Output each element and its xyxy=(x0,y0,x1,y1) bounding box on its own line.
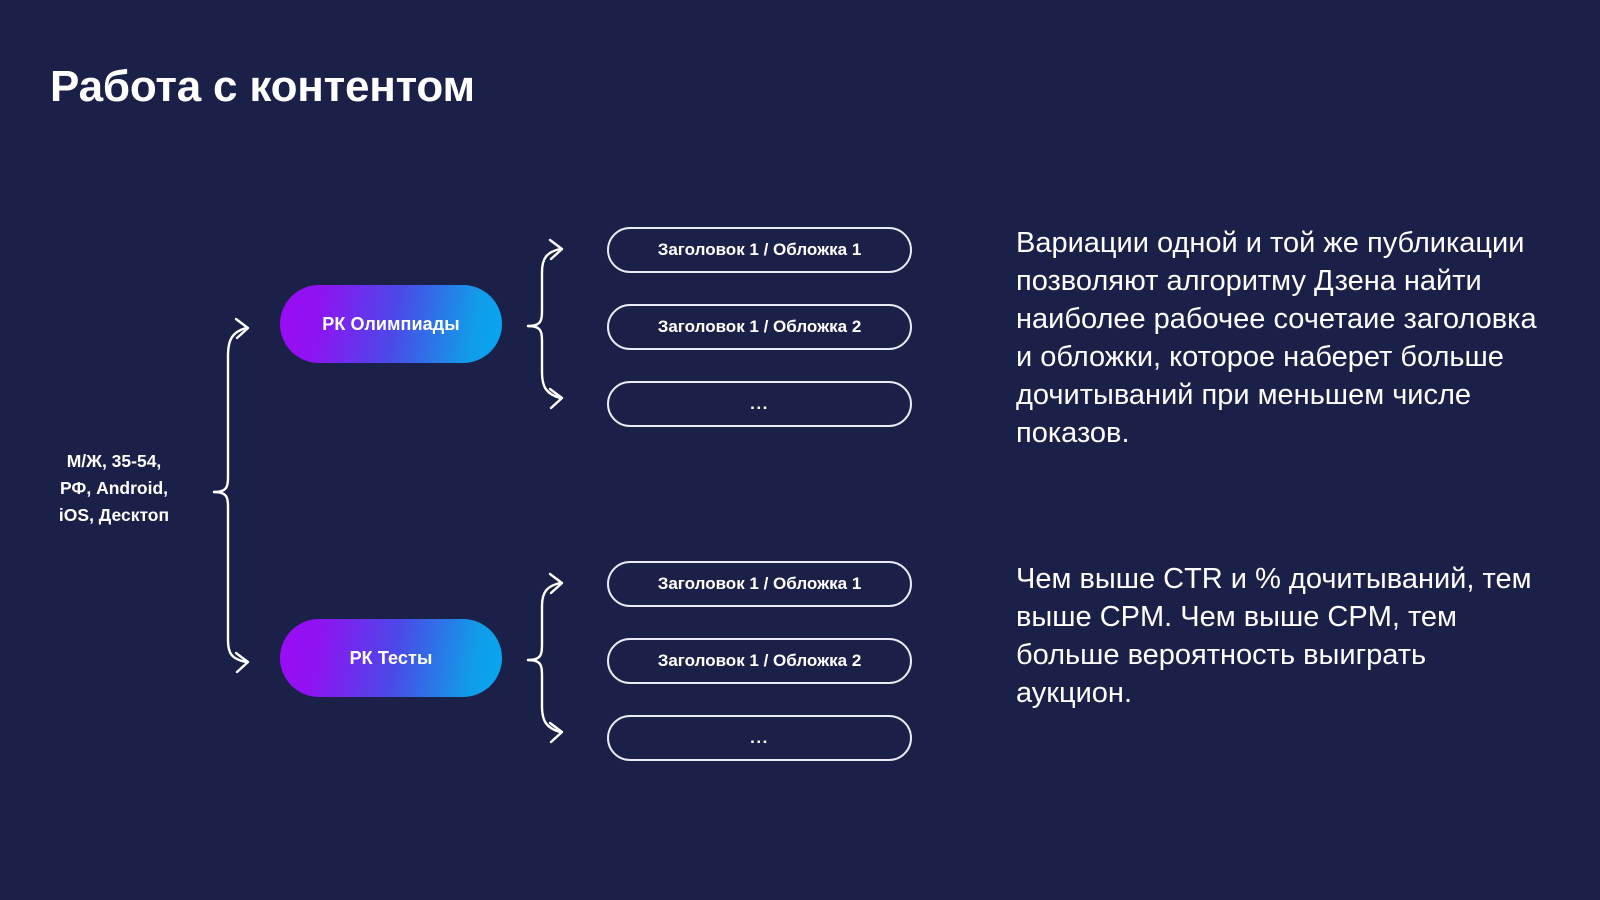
campaign-pill-olympiads[interactable]: РК Олимпиады xyxy=(280,285,502,363)
right-brace-bottom-arrowhead-upper xyxy=(550,574,562,593)
variant-box-label: Заголовок 1 / Обложка 1 xyxy=(658,240,862,260)
notes-paragraph-1: Вариации одной и той же публикации позво… xyxy=(1016,224,1546,452)
slide-canvas: Работа с контентом М/Ж, 35-54, РФ, Andro… xyxy=(0,0,1600,900)
variant-box-more[interactable]: ... xyxy=(607,381,912,427)
campaign-pill-tests[interactable]: РК Тесты xyxy=(280,619,502,697)
variant-box-label: Заголовок 1 / Обложка 2 xyxy=(658,317,862,337)
right-brace-connector-bottom xyxy=(528,574,562,742)
right-brace-connector-top xyxy=(528,240,562,408)
variant-box[interactable]: Заголовок 1 / Обложка 1 xyxy=(607,561,912,607)
right-brace-bottom-arrowhead-lower xyxy=(550,723,562,742)
campaign-pill-label: РК Тесты xyxy=(350,648,433,669)
audience-label-line-1: М/Ж, 35-54, xyxy=(18,448,210,475)
variant-box-label: ... xyxy=(750,728,769,748)
variant-box-label: Заголовок 1 / Обложка 2 xyxy=(658,651,862,671)
variant-box-label: ... xyxy=(750,394,769,414)
audience-label-line-3: iOS, Десктоп xyxy=(18,502,210,529)
audience-label-line-2: РФ, Android, xyxy=(18,475,210,502)
left-brace-arrowhead-bottom xyxy=(236,653,248,672)
audience-label: М/Ж, 35-54, РФ, Android, iOS, Десктоп xyxy=(18,448,210,529)
left-brace-arrowhead-top xyxy=(236,319,248,338)
right-brace-top-arrowhead-lower xyxy=(550,389,562,408)
notes-paragraph-2: Чем выше CTR и % дочитываний, тем выше C… xyxy=(1016,560,1546,712)
left-brace-connector xyxy=(214,319,248,672)
variant-box-label: Заголовок 1 / Обложка 1 xyxy=(658,574,862,594)
variant-box[interactable]: Заголовок 1 / Обложка 1 xyxy=(607,227,912,273)
variant-box[interactable]: Заголовок 1 / Обложка 2 xyxy=(607,304,912,350)
page-title: Работа с контентом xyxy=(50,62,475,112)
variant-box[interactable]: Заголовок 1 / Обложка 2 xyxy=(607,638,912,684)
variant-box-more[interactable]: ... xyxy=(607,715,912,761)
right-brace-top-arrowhead-upper xyxy=(550,240,562,259)
campaign-pill-label: РК Олимпиады xyxy=(322,314,460,335)
